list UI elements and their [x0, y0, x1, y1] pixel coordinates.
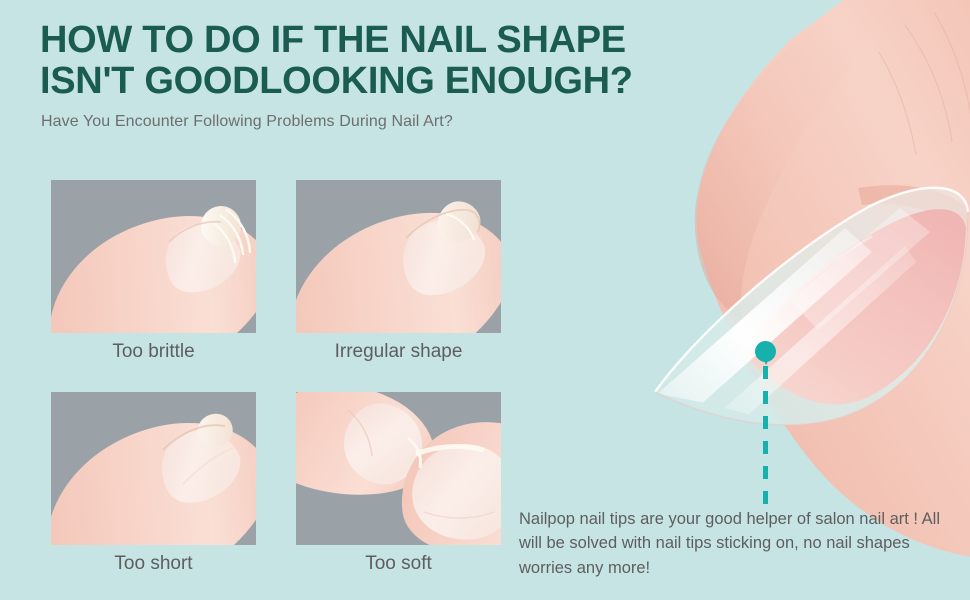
problem-label-too-brittle: Too brittle [51, 341, 256, 363]
teal-pin-marker-icon [755, 341, 776, 362]
dashed-connector-line [763, 366, 768, 506]
promo-text: Nailpop nail tips are your good helper o… [519, 507, 959, 580]
problem-label-irregular-shape: Irregular shape [296, 341, 501, 363]
problem-tile-too-brittle [51, 180, 256, 333]
page-title: HOW TO DO IF THE NAIL SHAPE ISN'T GOODLO… [40, 20, 760, 101]
problem-tile-irregular-shape [296, 180, 501, 333]
problem-label-too-soft: Too soft [296, 553, 501, 575]
problem-label-too-short: Too short [51, 553, 256, 575]
problem-tile-too-soft [296, 392, 501, 545]
page-subtitle: Have You Encounter Following Problems Du… [41, 113, 453, 131]
promo-banner: HOW TO DO IF THE NAIL SHAPE ISN'T GOODLO… [0, 0, 970, 600]
problem-tile-too-short [51, 392, 256, 545]
